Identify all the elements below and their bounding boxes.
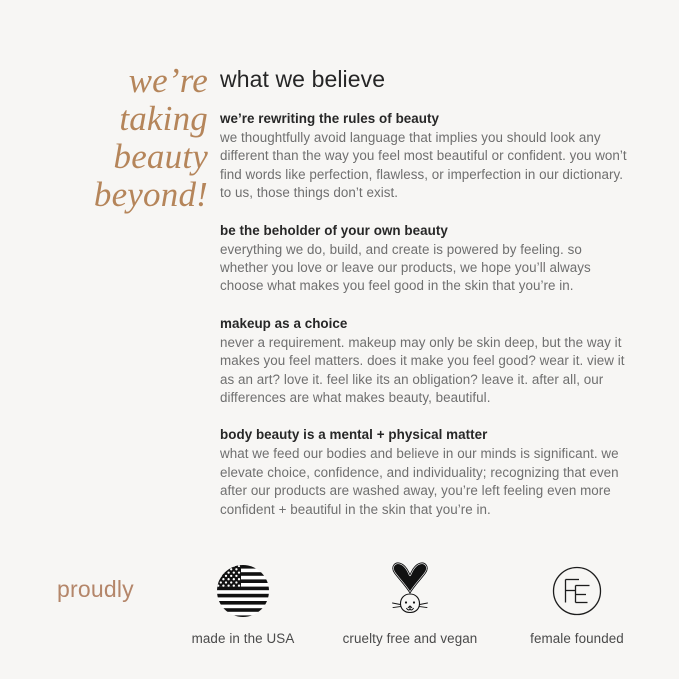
belief-heading: we’re rewriting the rules of beauty bbox=[220, 110, 630, 128]
female-founded-monogram-icon bbox=[551, 560, 603, 622]
belief-body: we thoughtfully avoid language that impl… bbox=[220, 129, 630, 203]
badge-caption: made in the USA bbox=[192, 631, 295, 647]
belief-block: body beauty is a mental + physical matte… bbox=[220, 426, 630, 519]
brand-headline-line-2: taking bbox=[40, 100, 208, 138]
badge-caption: female founded bbox=[530, 631, 624, 647]
belief-body: never a requirement. makeup may only be … bbox=[220, 334, 630, 408]
brand-headline-line-1: we’re bbox=[40, 62, 208, 100]
belief-page: we’re taking beauty beyond! what we beli… bbox=[0, 0, 679, 679]
belief-column: what we believe we’re rewriting the rule… bbox=[220, 66, 630, 519]
badge-caption: cruelty free and vegan bbox=[343, 631, 478, 647]
belief-block: we’re rewriting the rules of beauty we t… bbox=[220, 110, 630, 203]
badge-row: made in the USA cruelty free and bbox=[0, 560, 679, 670]
belief-body: everything we do, build, and create is p… bbox=[220, 241, 630, 296]
cruelty-free-bunny-heart-icon bbox=[384, 560, 436, 622]
usa-flag-circle-icon bbox=[215, 560, 271, 622]
belief-heading: be the beholder of your own beauty bbox=[220, 222, 630, 240]
belief-block: be the beholder of your own beauty every… bbox=[220, 222, 630, 296]
badge-list: made in the USA cruelty free and bbox=[160, 560, 660, 647]
belief-heading: makeup as a choice bbox=[220, 315, 630, 333]
badge-made-in-usa: made in the USA bbox=[160, 560, 326, 647]
brand-headline-line-3: beauty bbox=[40, 138, 208, 176]
badge-cruelty-free: cruelty free and vegan bbox=[327, 560, 493, 647]
badge-female-founded: female founded bbox=[494, 560, 660, 647]
belief-block: makeup as a choice never a requirement. … bbox=[220, 315, 630, 408]
belief-heading: body beauty is a mental + physical matte… bbox=[220, 426, 630, 444]
page-title: what we believe bbox=[220, 66, 630, 92]
brand-headline-line-4: beyond! bbox=[40, 176, 208, 214]
belief-body: what we feed our bodies and believe in o… bbox=[220, 445, 630, 519]
brand-headline: we’re taking beauty beyond! bbox=[40, 62, 208, 214]
